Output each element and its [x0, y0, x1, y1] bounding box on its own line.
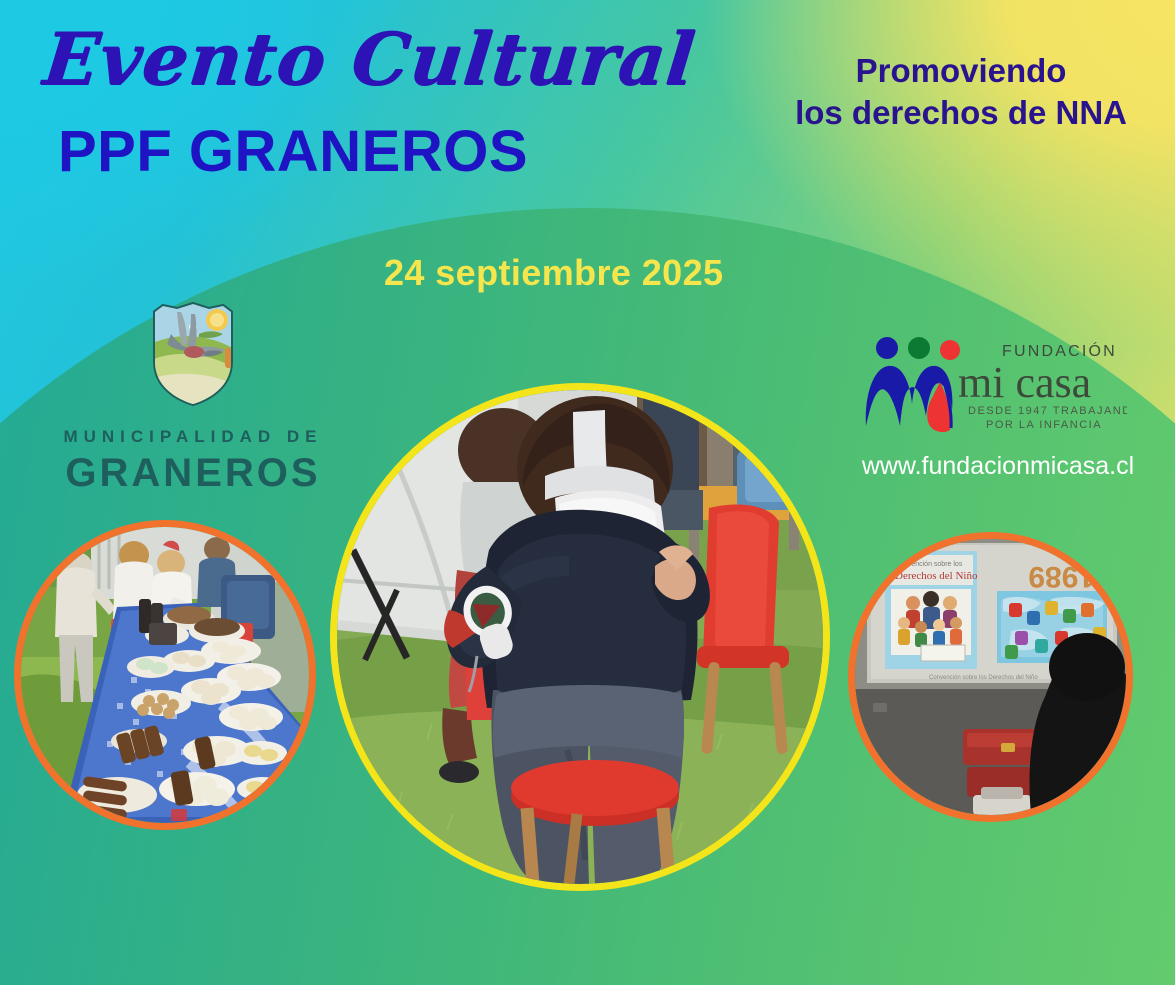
- svg-text:mi casa: mi casa: [958, 358, 1091, 407]
- tagline-line-1: Promoviendo: [795, 50, 1127, 92]
- graneros-shield-icon: [48, 300, 338, 413]
- poster-canvas: Evento Cultural PPF GRANEROS Promoviendo…: [0, 0, 1175, 985]
- event-date: 24 septiembre 2025: [384, 252, 723, 294]
- foundation-website-url[interactable]: www.fundacionmicasa.cl: [848, 452, 1148, 481]
- photo-oval-projection: Convención sobre los Derechos del Niño 1…: [848, 532, 1133, 822]
- fundacion-mi-casa-logo: FUNDACIÓN mi casa DESDE 1947 TRABAJANDO …: [862, 334, 1132, 443]
- svg-text:Convención sobre los: Convención sobre los: [895, 561, 963, 568]
- photo-oval-food-table: [14, 520, 316, 830]
- svg-text:Derechos del Niño: Derechos del Niño: [895, 570, 978, 582]
- municipality-logo: MUNICIPALIDAD DE GRANEROS: [48, 300, 338, 496]
- tagline-line-2: los derechos de NNA: [795, 92, 1127, 134]
- municipality-logo-line-2: GRANEROS: [48, 451, 338, 496]
- svg-text:POR LA INFANCIA: POR LA INFANCIA: [986, 419, 1102, 431]
- tagline-block: Promoviendo los derechos de NNA: [795, 50, 1127, 134]
- headline-script: Evento Cultural: [40, 16, 700, 101]
- svg-text:DESDE 1947 TRABAJANDO: DESDE 1947 TRABAJANDO: [968, 405, 1127, 417]
- mi-casa-figures-icon: [866, 337, 960, 432]
- photo-oval-vr-child: [330, 383, 830, 891]
- headline-main: PPF GRANEROS: [58, 118, 528, 185]
- svg-text:Convención sobre los Derechos: Convención sobre los Derechos del Niño: [929, 675, 1038, 681]
- municipality-logo-line-1: MUNICIPALIDAD DE: [48, 427, 338, 447]
